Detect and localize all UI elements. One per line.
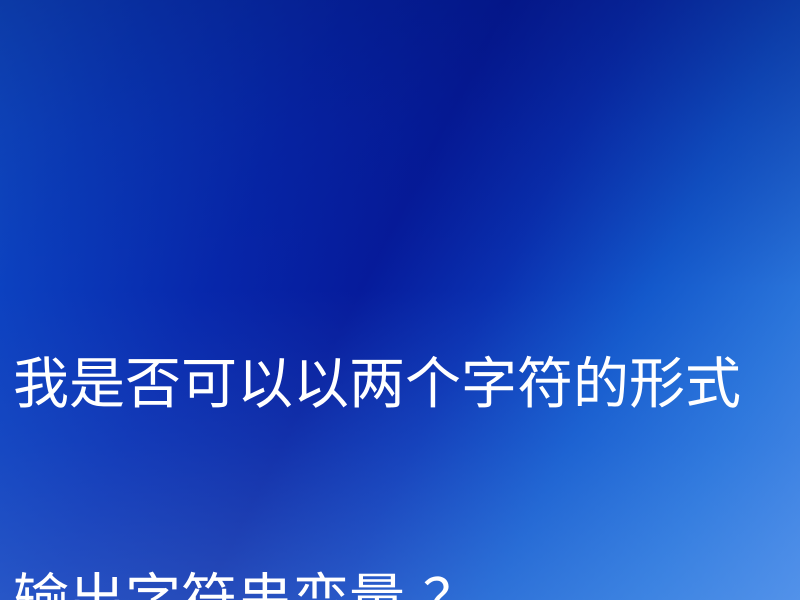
headline-line-1: 我是否可以以两个字符的形式 — [13, 349, 800, 421]
headline-text: 我是否可以以两个字符的形式 输出字符串变量 ？ — [13, 205, 800, 600]
headline-line-2: 输出字符串变量 ？ — [13, 565, 800, 600]
question-card: 我是否可以以两个字符的形式 输出字符串变量 ？ — [0, 0, 800, 600]
